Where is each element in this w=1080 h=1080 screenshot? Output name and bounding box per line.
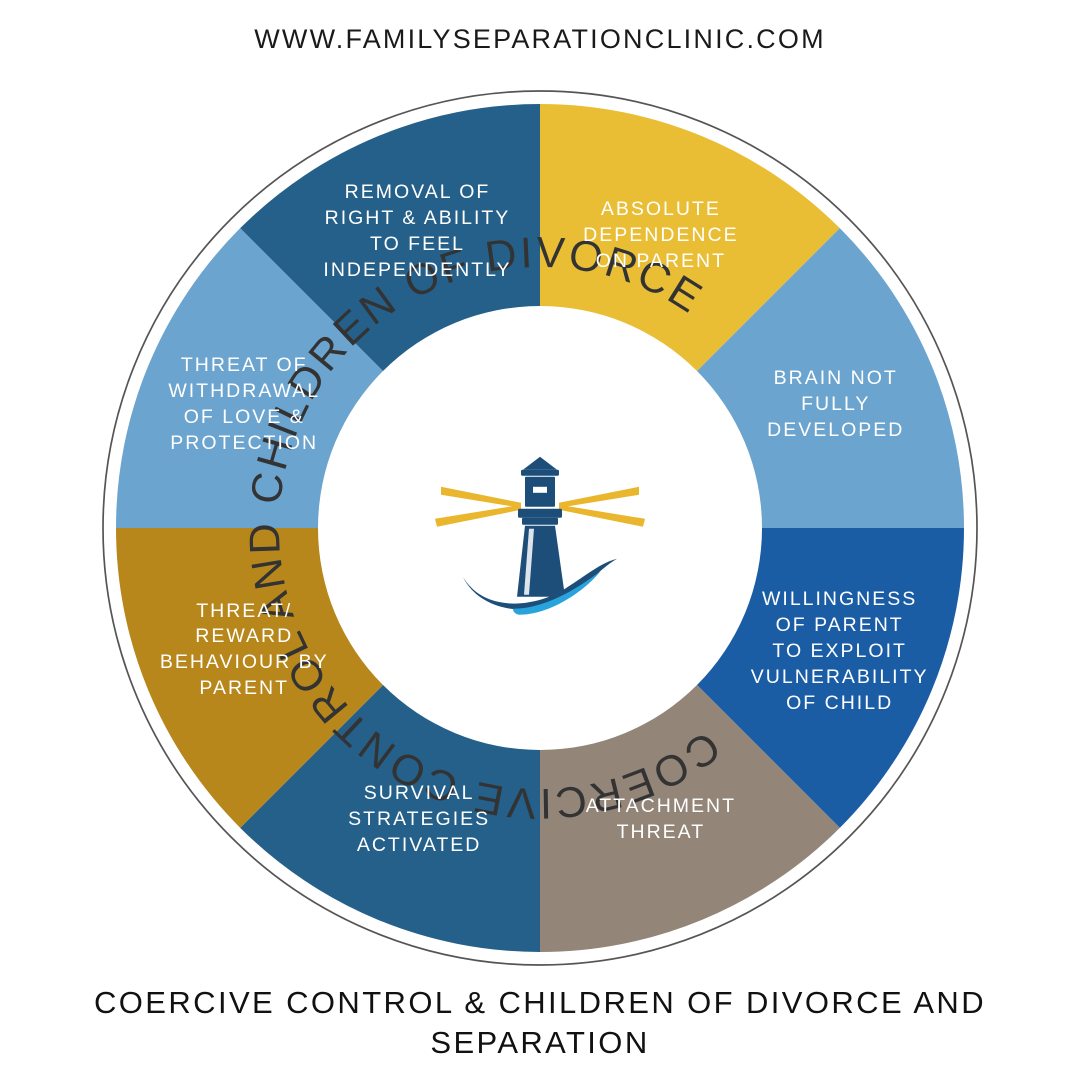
site-url-header: WWW.FAMILYSEPARATIONCLINIC.COM: [0, 24, 1080, 55]
light-beam-right-icon: [559, 487, 645, 527]
light-beam-left-icon: [435, 487, 521, 527]
lighthouse-logo: [425, 437, 655, 627]
lighthouse-tower-icon: [517, 457, 565, 597]
infographic-caption: COERCIVE CONTROL & CHILDREN OF DIVORCE A…: [0, 983, 1080, 1062]
coercive-control-wheel: COERCIVE CONTROL AND CHILDREN OF DIVORCE…: [60, 88, 1020, 968]
